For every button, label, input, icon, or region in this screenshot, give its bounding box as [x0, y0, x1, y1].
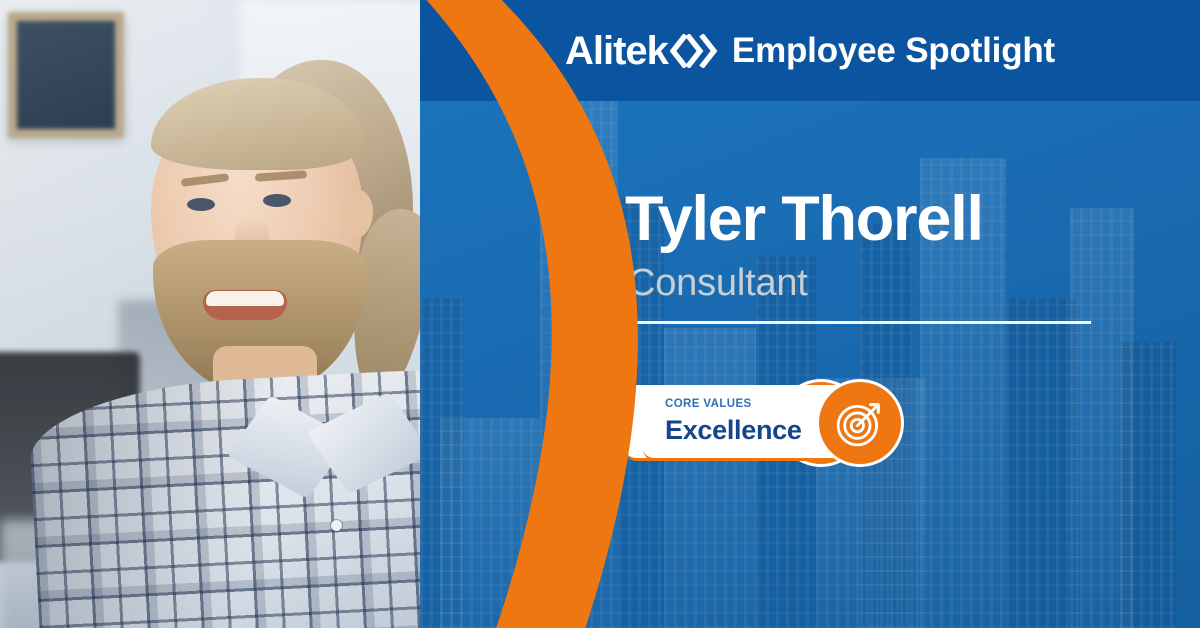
header-title: Employee Spotlight: [732, 33, 1055, 68]
frame-art-left: [42, 70, 66, 112]
shirt-button-upper: [331, 520, 342, 531]
eye-right: [263, 194, 291, 207]
employee-spotlight-banner: Alitek Employee Spotlight Tyler Thorell …: [0, 0, 1200, 628]
teeth: [206, 291, 284, 306]
chevron-double-right-icon: [670, 34, 718, 68]
employee-role: Consultant: [628, 264, 808, 302]
alitek-logo[interactable]: Alitek: [565, 31, 718, 71]
header-bar: Alitek Employee Spotlight: [420, 0, 1200, 101]
badge-excellence-icon-circle: [816, 379, 904, 467]
core-values-badges: CORE VALUES Service CORE VALUES Excellen…: [625, 379, 643, 467]
divider-rule: [625, 321, 1091, 324]
logo-wordmark: Alitek: [565, 31, 668, 71]
eye-left: [187, 198, 215, 211]
mouth: [203, 290, 287, 320]
employee-name: Tyler Thorell: [625, 188, 983, 251]
target-arrow-icon: [832, 395, 888, 451]
